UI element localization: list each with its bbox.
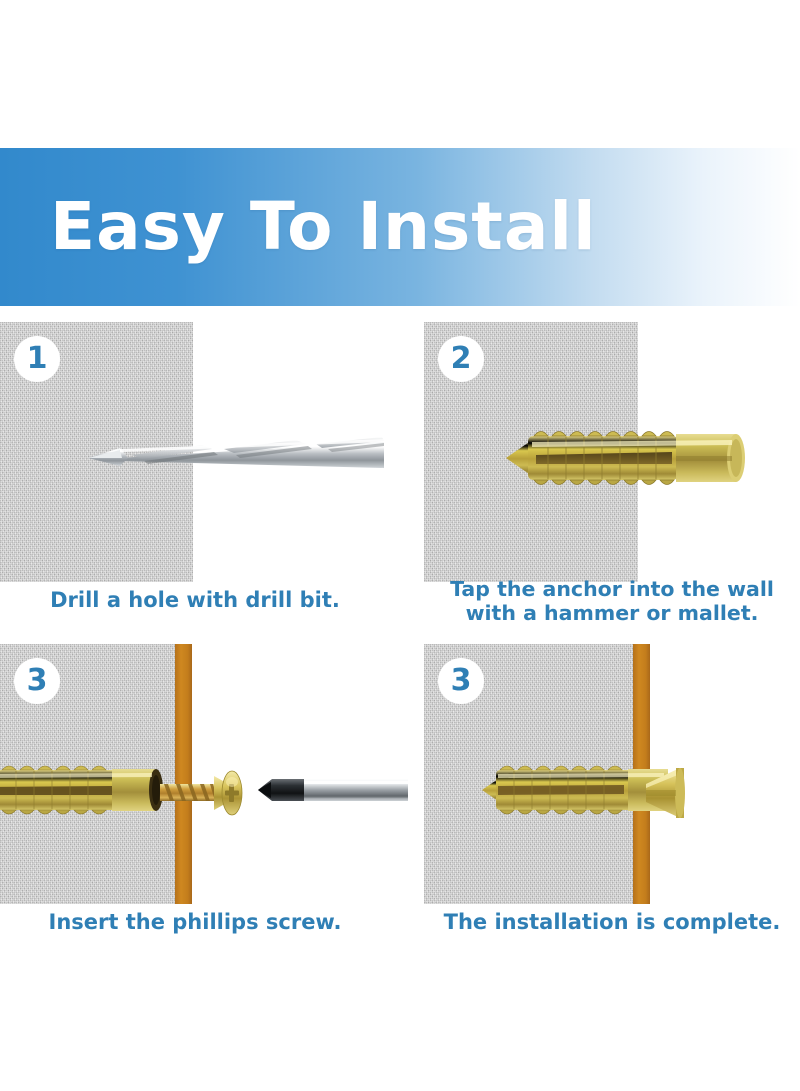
step-caption: Tap the anchor into the wall with a hamm… <box>424 578 800 626</box>
step-caption: Insert the phillips screw. <box>0 910 390 934</box>
step-number-badge: 1 <box>14 336 60 382</box>
caption-line: Insert the phillips screw. <box>0 910 390 934</box>
step-caption: The installation is complete. <box>424 910 800 934</box>
anchor-illustration <box>504 418 764 498</box>
step-number-badge: 3 <box>438 658 484 704</box>
phillips-screw-illustration <box>160 764 270 822</box>
header-banner: Easy To Install <box>0 148 800 306</box>
step-number-badge: 3 <box>14 658 60 704</box>
drill-bit-illustration <box>84 428 384 484</box>
caption-line: Drill a hole with drill bit. <box>0 588 390 612</box>
caption-line: Tap the anchor into the wall <box>424 578 800 602</box>
step-panel-2: 2 Tap the anchor into the wall with a ha… <box>424 322 800 634</box>
caption-line: with a hammer or mallet. <box>424 602 800 626</box>
step-panel-1: 1 Drill a hole with drill bit. <box>0 322 390 634</box>
step-panel-3: 3 Insert the phillips screw. <box>0 644 390 956</box>
step-number-badge: 2 <box>438 336 484 382</box>
page-title: Easy To Install <box>50 194 597 260</box>
step-panel-4: 3 The installation is complete. <box>424 644 800 956</box>
anchor-illustration <box>0 762 180 818</box>
step-caption: Drill a hole with drill bit. <box>0 588 390 612</box>
seated-screw-head-illustration <box>646 762 736 824</box>
steps-grid: 1 Drill a hole with drill bit. <box>0 322 800 962</box>
caption-line: The installation is complete. <box>424 910 800 934</box>
screwdriver-bit-illustration <box>258 772 408 808</box>
